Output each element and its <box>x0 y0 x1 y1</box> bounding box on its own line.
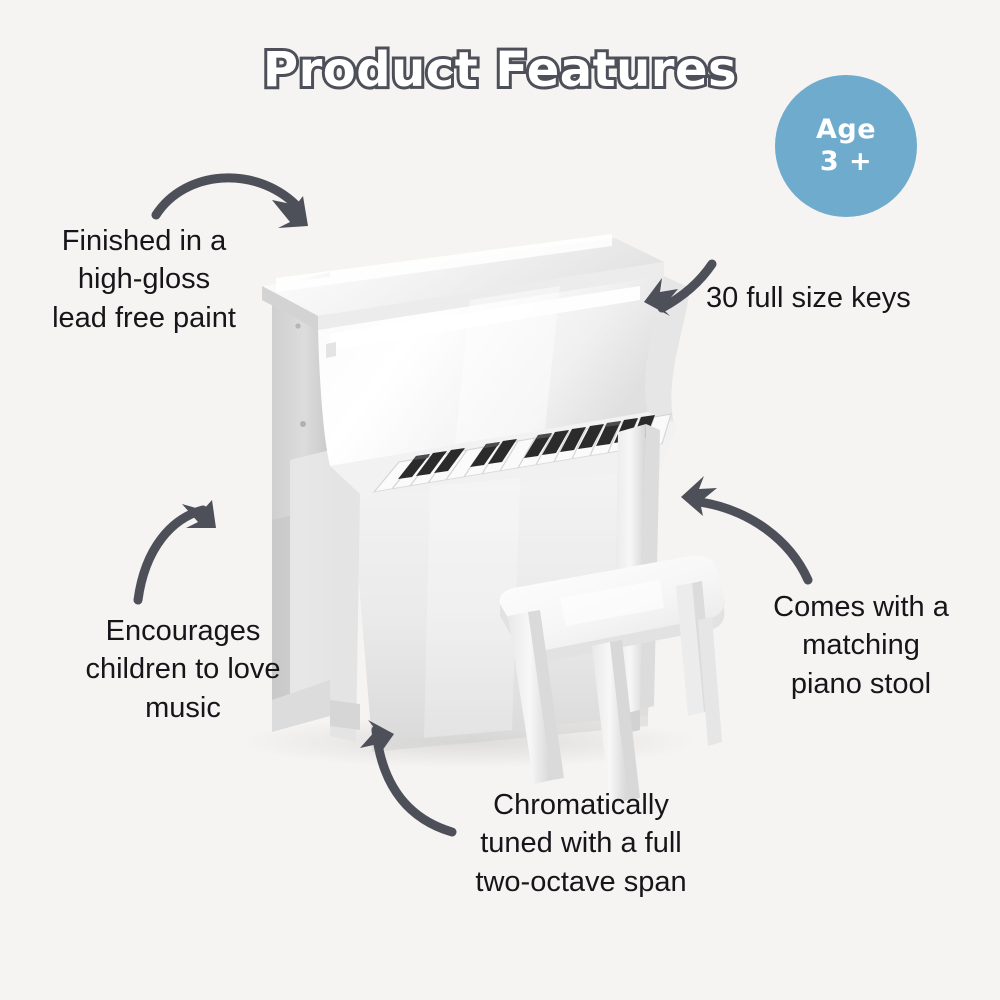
feature-caption-music: Encourages children to love music <box>40 612 326 727</box>
feature-caption-octave: Chromatically tuned with a full two-octa… <box>430 786 732 901</box>
feature-caption-keys: 30 full size keys <box>706 279 996 317</box>
arrow-keys <box>662 264 712 308</box>
arrow-stool <box>700 502 808 580</box>
arrow-music <box>138 510 203 600</box>
arrowhead-stool <box>681 476 717 516</box>
feature-caption-paint: Finished in a high-gloss lead free paint <box>6 222 282 337</box>
infographic-canvas: Product Features Age 3 + <box>0 0 1000 1000</box>
arrow-paint <box>156 178 296 215</box>
feature-caption-stool: Comes with a matching piano stool <box>728 588 994 703</box>
